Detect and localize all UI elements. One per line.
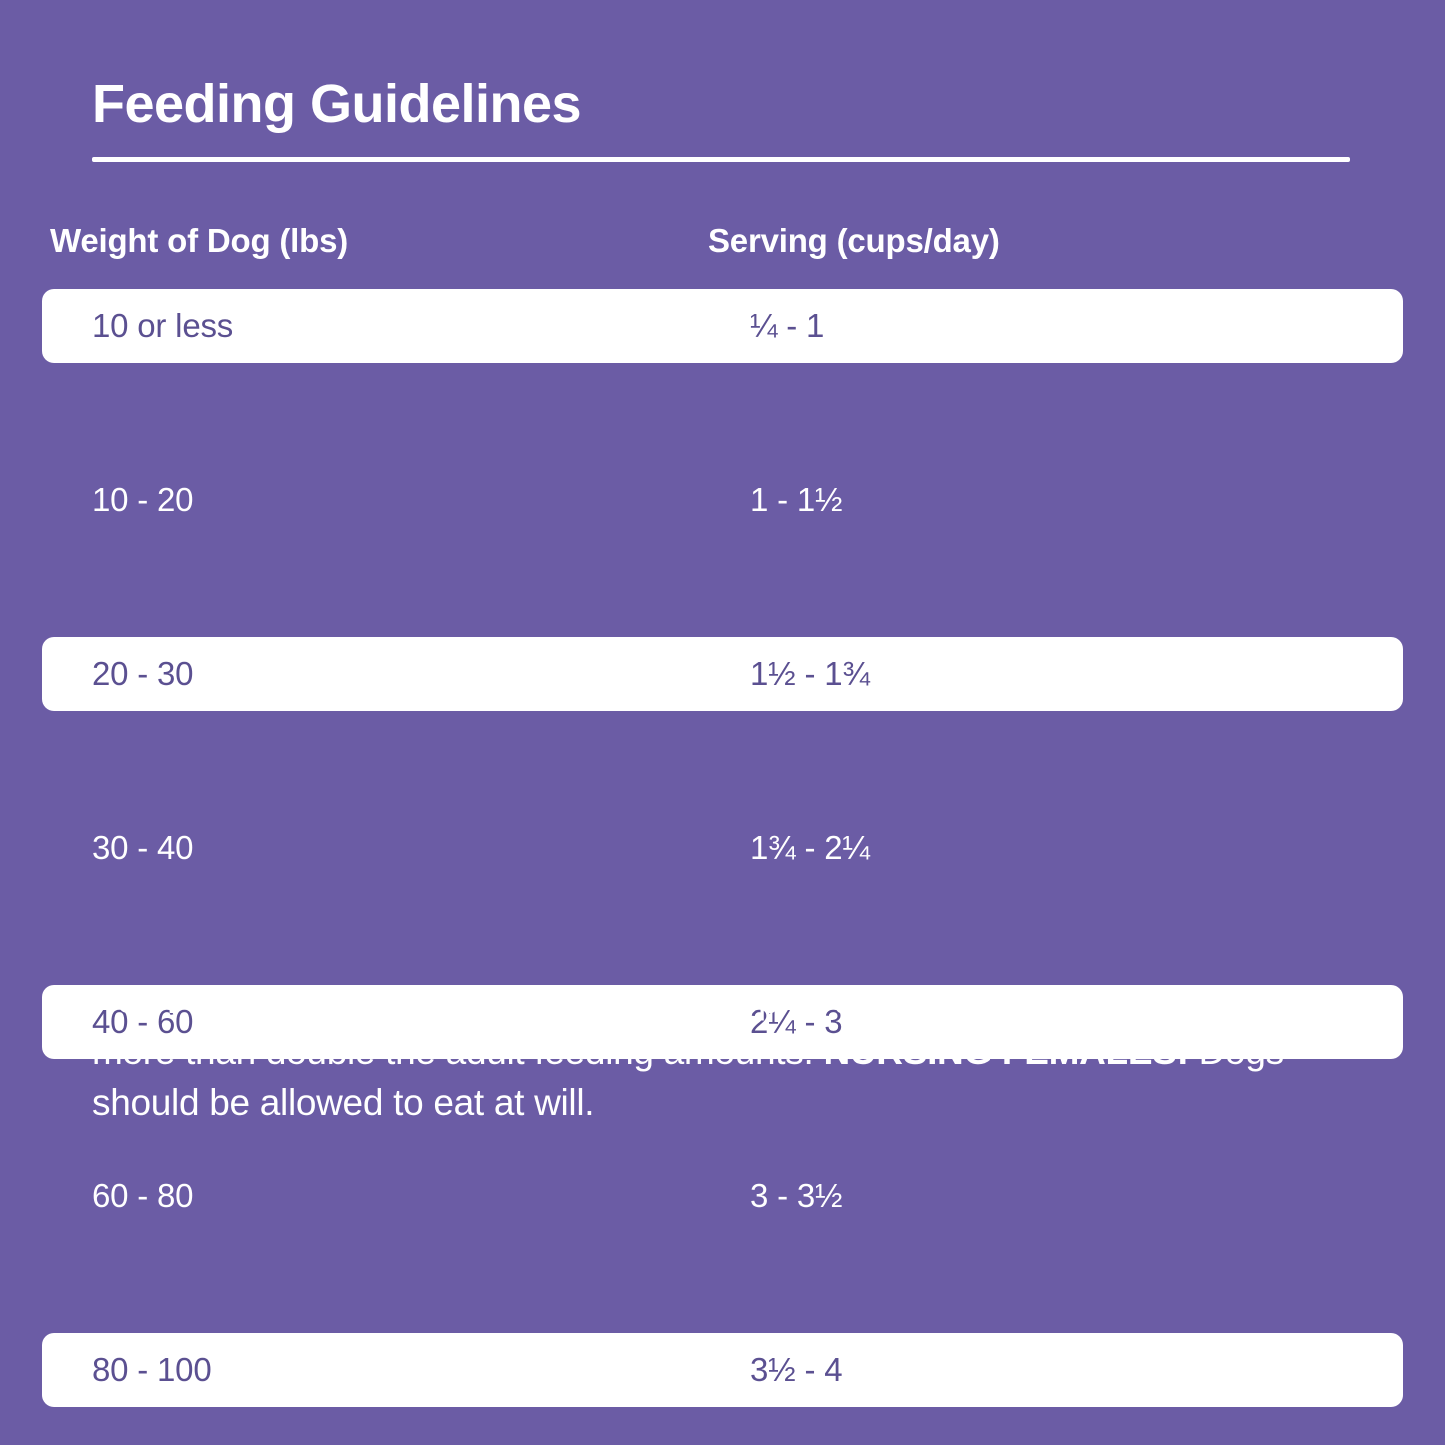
cell-weight: 10 - 20: [92, 481, 750, 519]
title-divider: [92, 157, 1350, 162]
feeding-table: Weight of Dog (lbs) Serving (cups/day) 1…: [0, 205, 1445, 1407]
table-row: 80 - 1003½ - 4: [42, 1333, 1403, 1407]
table-row: 60 - 803 - 3½: [42, 1159, 1403, 1233]
cell-serving: 1½ - 1¾: [750, 655, 1403, 693]
page-title: Feeding Guidelines: [92, 76, 1350, 133]
table-row: 20 - 301½ - 1¾: [42, 637, 1403, 711]
table-header-row: Weight of Dog (lbs) Serving (cups/day): [0, 205, 1445, 277]
column-header-weight: Weight of Dog (lbs): [50, 222, 708, 260]
table-row: 30 - 401¾ - 2¼: [42, 811, 1403, 885]
cell-serving: 3 - 3½: [750, 1177, 1403, 1215]
cell-serving: 3½ - 4: [750, 1351, 1403, 1389]
title-block: Feeding Guidelines: [92, 76, 1350, 162]
footnote-note: PUPPIES AND PREGNANT DOGS: Puppies and p…: [92, 975, 1367, 1128]
footnote-puppies-label: PUPPIES AND PREGNANT DOGS:: [92, 980, 683, 1021]
cell-weight: 60 - 80: [92, 1177, 750, 1215]
feeding-guidelines-panel: Feeding Guidelines Weight of Dog (lbs) S…: [0, 0, 1445, 1445]
cell-serving: 1 - 1½: [750, 481, 1403, 519]
table-body: 10 or less¼ - 110 - 201 - 1½20 - 301½ - …: [0, 289, 1445, 1407]
table-row: 10 or less¼ - 1: [42, 289, 1403, 363]
cell-weight: 20 - 30: [92, 655, 750, 693]
cell-weight: 30 - 40: [92, 829, 750, 867]
cell-serving: ¼ - 1: [750, 307, 1403, 345]
cell-weight: 80 - 100: [92, 1351, 750, 1389]
column-header-serving: Serving (cups/day): [708, 222, 1395, 260]
footnote-nursing-label: NURSING FEMALES:: [823, 1031, 1188, 1072]
cell-serving: 1¾ - 2¼: [750, 829, 1403, 867]
table-row: 10 - 201 - 1½: [42, 463, 1403, 537]
cell-weight: 10 or less: [92, 307, 750, 345]
